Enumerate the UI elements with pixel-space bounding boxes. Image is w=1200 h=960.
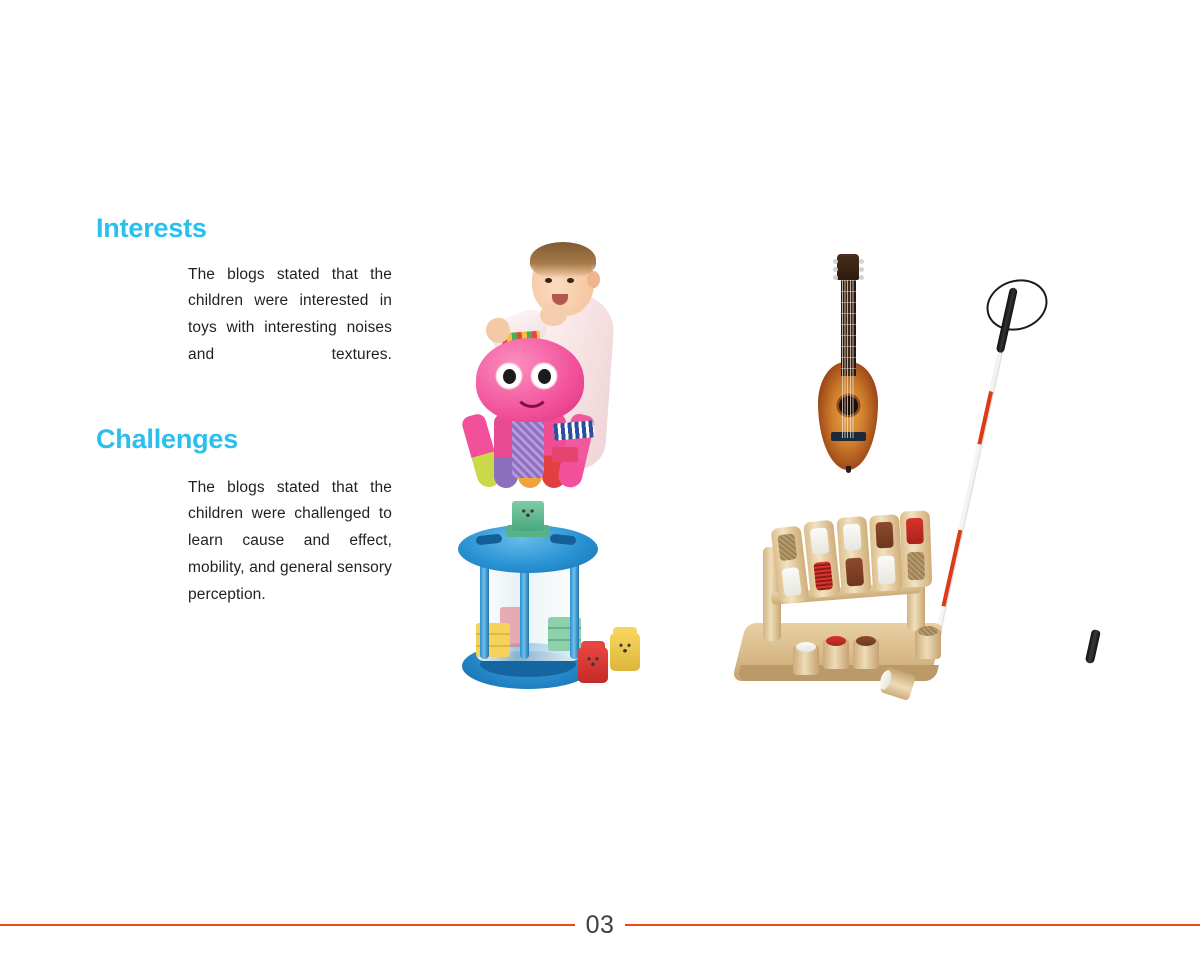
- texture-swatch: [813, 561, 833, 591]
- guitar-end-pin: [846, 466, 851, 473]
- texture-swatch: [877, 556, 895, 585]
- guitar-headstock: [837, 254, 859, 280]
- texture-cylinder: [853, 639, 879, 669]
- texture-swatch: [810, 527, 830, 555]
- texture-panel: [900, 510, 933, 587]
- drum-post: [480, 553, 489, 659]
- octopus-head: [476, 338, 584, 422]
- text-column: Interests The blogs stated that the chil…: [96, 214, 396, 609]
- drum-block-green: [512, 501, 544, 531]
- guitar-tuning-peg: [859, 267, 864, 272]
- page-number: 03: [575, 913, 626, 938]
- section-body-interests: The blogs stated that the children were …: [188, 262, 392, 369]
- texture-panel: [836, 516, 871, 594]
- baby-eye-left: [545, 278, 552, 283]
- section-heading-challenges: Challenges: [96, 425, 396, 455]
- guitar-tuning-peg: [833, 259, 838, 264]
- guitar-tuning-peg: [833, 267, 838, 272]
- octopus-brand-label: [552, 447, 578, 462]
- texture-swatch: [796, 642, 816, 652]
- cane-tip: [1085, 629, 1101, 664]
- baby-hand-right: [540, 304, 567, 326]
- octopus-pupil-left: [503, 369, 516, 384]
- guitar-tuning-peg: [859, 275, 864, 280]
- baby-hair: [530, 242, 596, 278]
- figure-baby-octopus-toy: [448, 242, 658, 497]
- texture-panel: [869, 514, 903, 591]
- drum-block-red: [578, 647, 608, 683]
- texture-swatch: [875, 522, 893, 549]
- cane-wrist-loop: [980, 272, 1054, 339]
- texture-cylinder: [793, 645, 819, 675]
- octopus-pupil-right: [538, 369, 551, 384]
- bear-face-icon: [518, 507, 537, 521]
- guitar-tuning-peg: [833, 275, 838, 280]
- figure-wooden-sensory-toy: [735, 505, 973, 710]
- slide-footer: 03: [0, 905, 1200, 945]
- footer-rule-right: [625, 924, 1200, 926]
- texture-panel: [803, 520, 841, 599]
- texture-swatch: [907, 552, 925, 581]
- section-heading-interests: Interests: [96, 214, 396, 244]
- texture-cylinder: [915, 629, 941, 659]
- section-interests: Interests The blogs stated that the chil…: [96, 214, 396, 369]
- texture-swatch: [843, 524, 862, 551]
- figure-acoustic-guitar: [808, 254, 888, 476]
- guitar-tuning-peg: [859, 259, 864, 264]
- bear-face-icon: [616, 640, 634, 657]
- texture-swatch: [918, 626, 938, 636]
- baby-eye-right: [567, 278, 574, 283]
- footer-rule-left: [0, 924, 575, 926]
- texture-swatch: [906, 518, 924, 545]
- guitar-strings: [842, 280, 855, 438]
- drum-post: [570, 553, 579, 659]
- texture-swatch: [845, 557, 864, 586]
- octopus-textured-belly: [512, 414, 544, 478]
- texture-swatch: [826, 636, 846, 646]
- slide-canvas: Interests The blogs stated that the chil…: [0, 0, 1200, 960]
- texture-swatch: [856, 636, 876, 646]
- bear-face-icon: [584, 654, 602, 671]
- baby-ear: [587, 271, 600, 288]
- section-body-challenges: The blogs stated that the children were …: [188, 475, 392, 609]
- section-challenges: Challenges The blogs stated that the chi…: [96, 425, 396, 609]
- texture-swatch: [781, 567, 801, 597]
- figure-blue-drop-block-toy: [450, 495, 665, 705]
- octopus-ribbon-tag: [553, 420, 594, 440]
- figure-white-cane: [968, 278, 1098, 678]
- texture-swatch: [777, 533, 797, 561]
- drum-block-yellow: [610, 633, 640, 671]
- texture-cylinder: [823, 639, 849, 669]
